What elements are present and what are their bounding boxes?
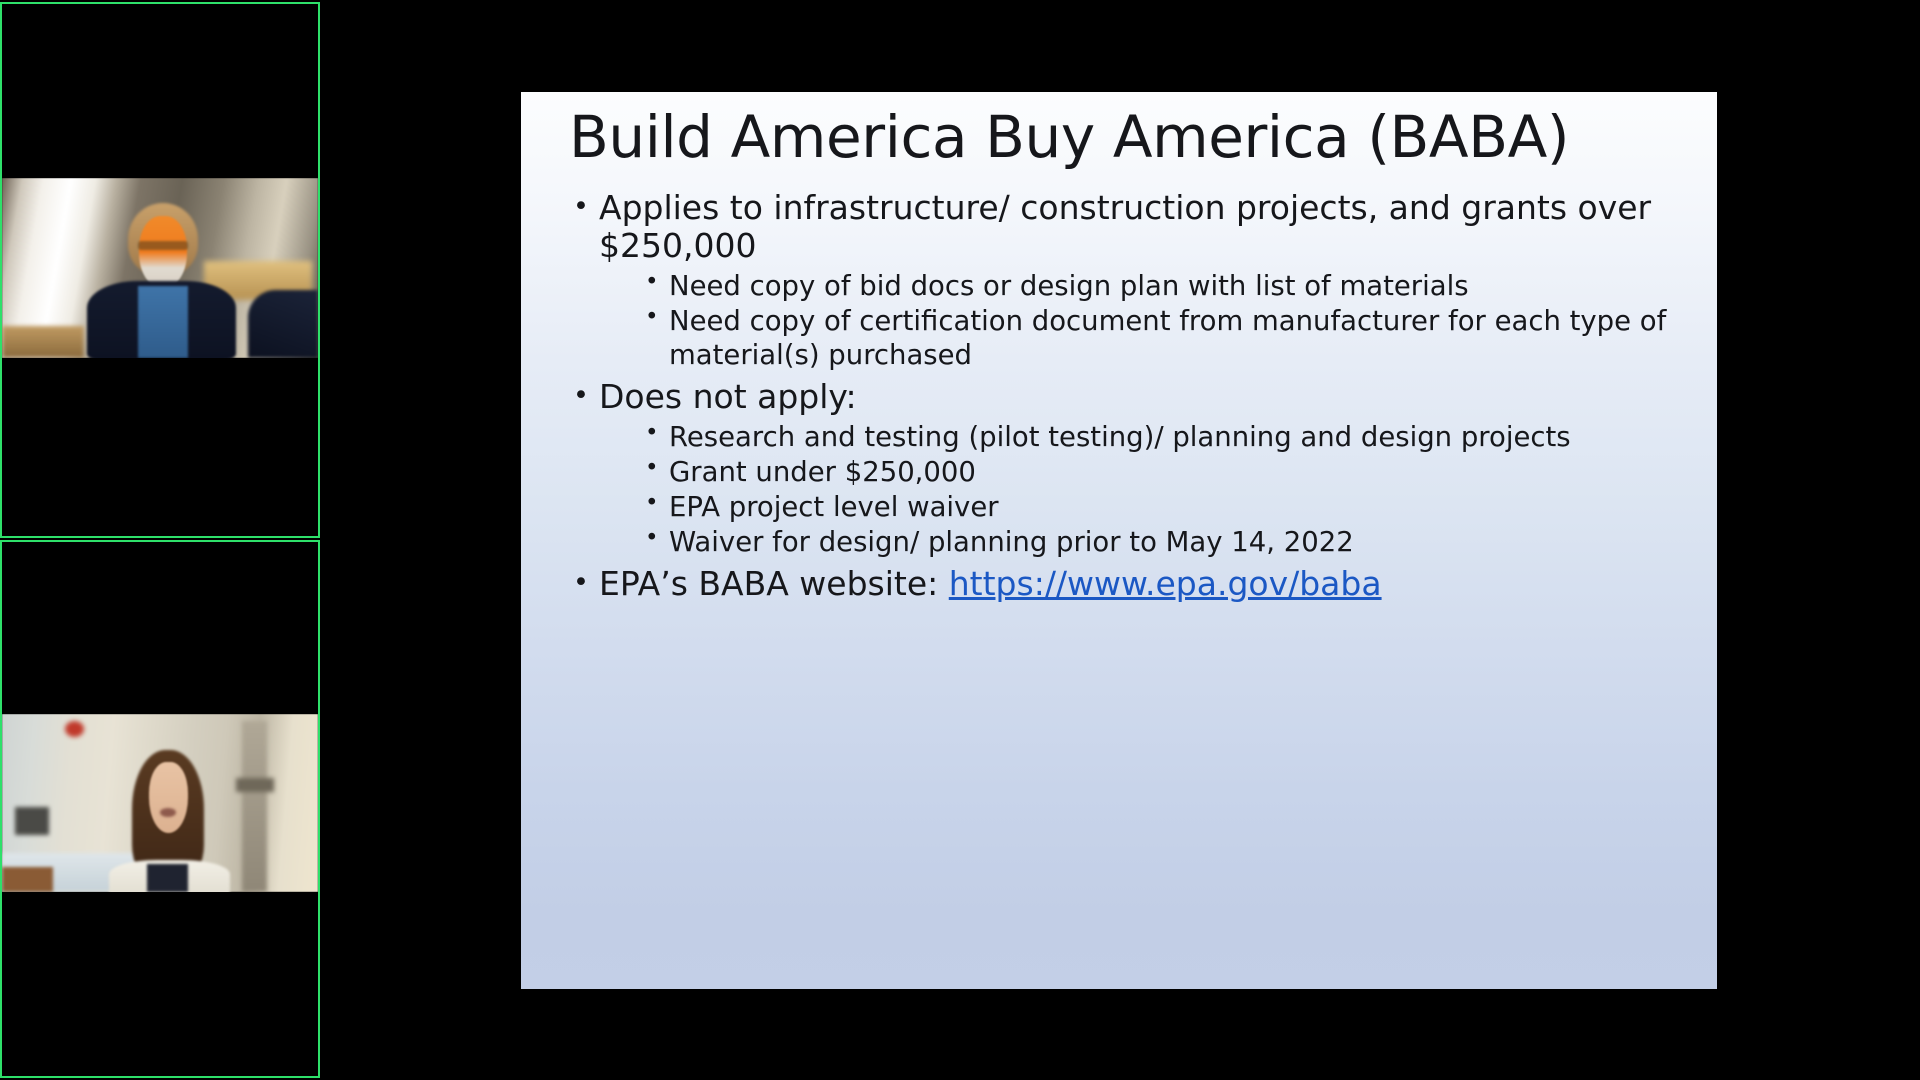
- bullet-text: Does not apply:: [599, 378, 1681, 417]
- bullet-item-website: EPA’s BABA website: https://www.epa.gov/…: [569, 565, 1681, 604]
- participant-video-1: [2, 178, 318, 358]
- video-detail: [138, 286, 189, 358]
- video-detail: [138, 241, 189, 250]
- video-detail: [248, 290, 318, 358]
- website-label: EPA’s BABA website:: [599, 564, 949, 603]
- video-frame-background: [2, 714, 318, 892]
- video-detail: [147, 864, 188, 892]
- sub-bullet-item: Need copy of bid docs or design plan wit…: [643, 269, 1681, 303]
- bullet-item: Applies to infrastructure/ construction …: [569, 189, 1681, 373]
- slide-content: Build America Buy America (BABA) Applies…: [569, 104, 1681, 989]
- sub-bullet-list: Research and testing (pilot testing)/ pl…: [599, 420, 1681, 559]
- participant-tile-1[interactable]: [0, 2, 320, 538]
- screen-share-view: Build America Buy America (BABA) Applies…: [0, 0, 1920, 1080]
- sub-bullet-list: Need copy of bid docs or design plan wit…: [599, 269, 1681, 372]
- video-detail: [2, 326, 84, 358]
- slide-bullet-list: Applies to infrastructure/ construction …: [569, 189, 1681, 604]
- participant-video-2: [2, 714, 318, 892]
- video-detail: [242, 721, 267, 892]
- video-detail: [139, 216, 186, 288]
- sub-bullet-item: Grant under $250,000: [643, 455, 1681, 489]
- slide-title: Build America Buy America (BABA): [569, 104, 1681, 171]
- sub-bullet-item: Waiver for design/ planning prior to May…: [643, 525, 1681, 559]
- bullet-text-wrapper: EPA’s BABA website: https://www.epa.gov/…: [599, 565, 1681, 604]
- video-detail: [236, 778, 274, 792]
- sub-bullet-item: Research and testing (pilot testing)/ pl…: [643, 420, 1681, 454]
- sub-bullet-item: EPA project level waiver: [643, 490, 1681, 524]
- participant-tile-2[interactable]: [0, 540, 320, 1078]
- shared-slide[interactable]: Build America Buy America (BABA) Applies…: [521, 92, 1717, 989]
- epa-baba-link[interactable]: https://www.epa.gov/baba: [949, 564, 1382, 603]
- bullet-item: Does not apply: Research and testing (pi…: [569, 378, 1681, 559]
- bullet-text: Applies to infrastructure/ construction …: [599, 189, 1681, 266]
- sub-bullet-item: Need copy of certification document from…: [643, 304, 1681, 372]
- participant-filmstrip: [0, 0, 320, 1080]
- video-detail: [65, 721, 84, 737]
- video-detail: [2, 867, 53, 892]
- video-frame-background: [2, 178, 318, 358]
- video-detail: [15, 807, 50, 835]
